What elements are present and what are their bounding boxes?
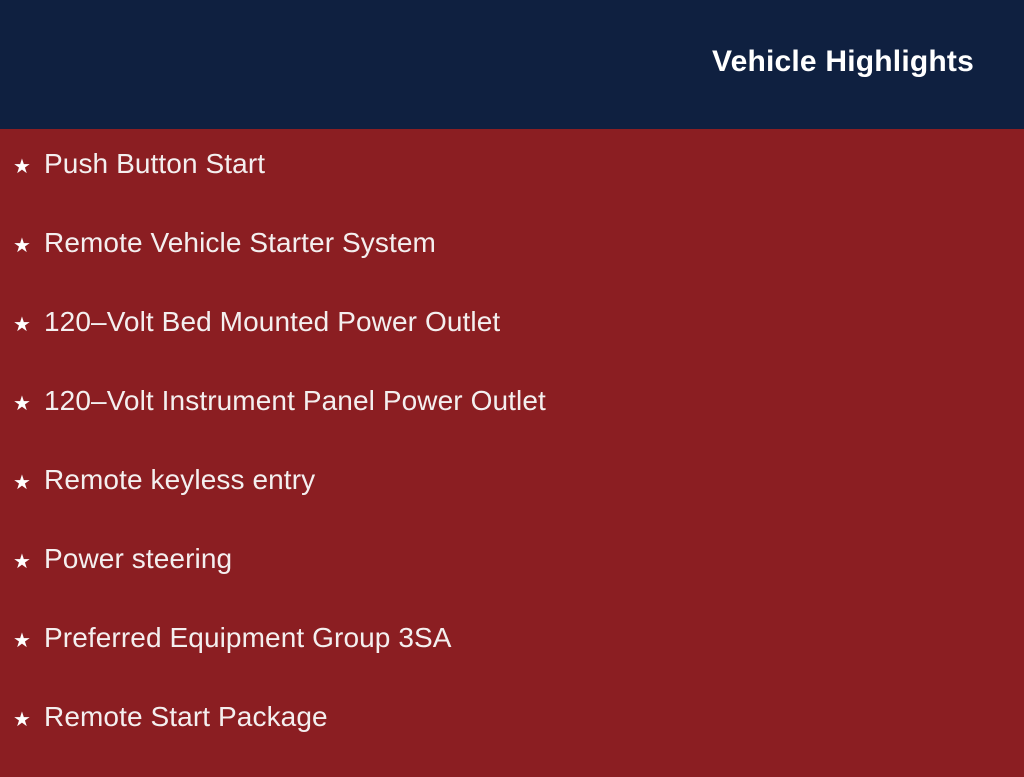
star-icon: ★: [13, 227, 44, 265]
star-icon: ★: [13, 622, 44, 660]
slide-header: Vehicle Highlights: [0, 0, 1024, 129]
list-item-label: Remote keyless entry: [44, 461, 315, 499]
star-icon: ★: [13, 148, 44, 186]
list-item-label: Remote Vehicle Starter System: [44, 224, 436, 262]
list-item-label: 120–Volt Bed Mounted Power Outlet: [44, 303, 500, 341]
star-icon: ★: [13, 464, 44, 502]
page-title: Vehicle Highlights: [712, 44, 974, 80]
list-item: ★ Push Button Start: [0, 145, 1024, 224]
list-item-label: Remote Start Package: [44, 698, 328, 736]
list-item-label: Push Button Start: [44, 145, 265, 183]
star-icon: ★: [13, 306, 44, 344]
vehicle-highlights-slide: Vehicle Highlights ★ Push Button Start ★…: [0, 0, 1024, 768]
slide-body: ★ Push Button Start ★ Remote Vehicle Sta…: [0, 129, 1024, 768]
list-item: ★ 120–Volt Instrument Panel Power Outlet: [0, 382, 1024, 461]
list-item: ★ Remote keyless entry: [0, 461, 1024, 540]
vehicle-highlights-list: ★ Push Button Start ★ Remote Vehicle Sta…: [0, 145, 1024, 777]
list-item-label: Preferred Equipment Group 3SA: [44, 619, 452, 657]
star-icon: ★: [13, 701, 44, 739]
list-item: ★ Remote Vehicle Starter System: [0, 224, 1024, 303]
list-item-label: 120–Volt Instrument Panel Power Outlet: [44, 382, 546, 420]
list-item: ★ Remote Start Package: [0, 698, 1024, 777]
list-item: ★ Preferred Equipment Group 3SA: [0, 619, 1024, 698]
star-icon: ★: [13, 543, 44, 581]
list-item: ★ Power steering: [0, 540, 1024, 619]
star-icon: ★: [13, 385, 44, 423]
list-item-label: Power steering: [44, 540, 232, 578]
list-item: ★ 120–Volt Bed Mounted Power Outlet: [0, 303, 1024, 382]
